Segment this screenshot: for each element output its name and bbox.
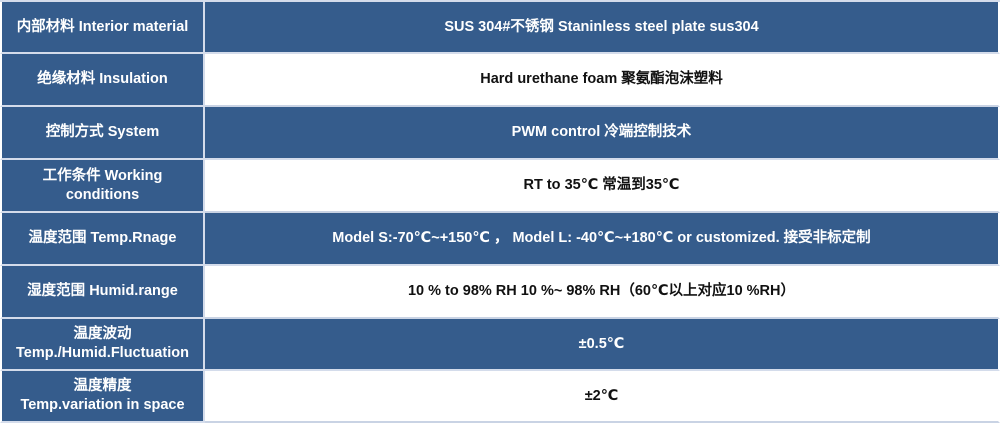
specification-table: 内部材料 Interior material SUS 304#不锈钢 Stani… (0, 2, 1000, 423)
row-value-interior-material: SUS 304#不锈钢 Staninless steel plate sus30… (205, 2, 1000, 54)
row-value-text: Hard urethane foam 聚氨酯泡沫塑料 (480, 70, 723, 88)
row-label-text: 温度范围 Temp.Rnage (29, 229, 177, 247)
row-label-text-en: Temp.variation in space (20, 396, 184, 415)
row-label-temp-variation: 温度精度 Temp.variation in space (0, 371, 205, 423)
row-label-temp-range: 温度范围 Temp.Rnage (0, 213, 205, 266)
row-value-insulation: Hard urethane foam 聚氨酯泡沫塑料 (205, 54, 1000, 107)
table-row: 温度波动 Temp./Humid.Fluctuation ±0.5℃ (0, 319, 1000, 371)
row-label-humid-range: 湿度范围 Humid.range (0, 266, 205, 319)
row-value-working-conditions: RT to 35℃ 常温到35℃ (205, 160, 1000, 213)
row-label-stack: 温度精度 Temp.variation in space (20, 377, 184, 415)
row-label-temp-fluctuation: 温度波动 Temp./Humid.Fluctuation (0, 319, 205, 371)
row-value-humid-range: 10 % to 98% RH 10 %~ 98% RH（60℃以上对应10 %R… (205, 266, 1000, 319)
table-row: 绝缘材料 Insulation Hard urethane foam 聚氨酯泡沫… (0, 54, 1000, 107)
table-row: 温度精度 Temp.variation in space ±2℃ (0, 371, 1000, 423)
row-value-text: ±2℃ (585, 387, 619, 405)
row-label-text-cn: 温度精度 (74, 377, 132, 396)
row-label-insulation: 绝缘材料 Insulation (0, 54, 205, 107)
row-label-working-conditions: 工作条件 Working conditions (0, 160, 205, 213)
row-value-temp-fluctuation: ±0.5℃ (205, 319, 1000, 371)
row-value-text: 10 % to 98% RH 10 %~ 98% RH（60℃以上对应10 %R… (408, 282, 795, 300)
row-value-text: RT to 35℃ 常温到35℃ (524, 176, 680, 194)
row-value-text: Model S:-70℃~+150℃ ， Model L: -40℃~+180℃… (332, 229, 870, 247)
row-value-text: ±0.5℃ (579, 335, 625, 353)
table-row: 温度范围 Temp.Rnage Model S:-70℃~+150℃ ， Mod… (0, 213, 1000, 266)
row-label-stack: 温度波动 Temp./Humid.Fluctuation (16, 325, 189, 363)
row-label-interior-material: 内部材料 Interior material (0, 2, 205, 54)
row-label-text: 湿度范围 Humid.range (27, 282, 178, 300)
table-row: 内部材料 Interior material SUS 304#不锈钢 Stani… (0, 2, 1000, 54)
row-label-text-en: Temp./Humid.Fluctuation (16, 344, 189, 363)
row-label-system: 控制方式 System (0, 107, 205, 160)
row-value-system: PWM control 冷端控制技术 (205, 107, 1000, 160)
table-row: 湿度范围 Humid.range 10 % to 98% RH 10 %~ 98… (0, 266, 1000, 319)
row-value-text: PWM control 冷端控制技术 (512, 123, 692, 141)
row-label-text: 绝缘材料 Insulation (37, 70, 168, 88)
row-value-temp-range: Model S:-70℃~+150℃ ， Model L: -40℃~+180℃… (205, 213, 1000, 266)
row-value-temp-variation: ±2℃ (205, 371, 1000, 423)
table-row: 控制方式 System PWM control 冷端控制技术 (0, 107, 1000, 160)
table-row: 工作条件 Working conditions RT to 35℃ 常温到35℃ (0, 160, 1000, 213)
row-label-text: 控制方式 System (46, 123, 160, 141)
row-value-text: SUS 304#不锈钢 Staninless steel plate sus30… (444, 18, 758, 36)
row-label-text: 内部材料 Interior material (17, 18, 189, 36)
row-label-text-cn: 温度波动 (73, 325, 131, 344)
row-label-text: 工作条件 Working conditions (6, 167, 199, 203)
